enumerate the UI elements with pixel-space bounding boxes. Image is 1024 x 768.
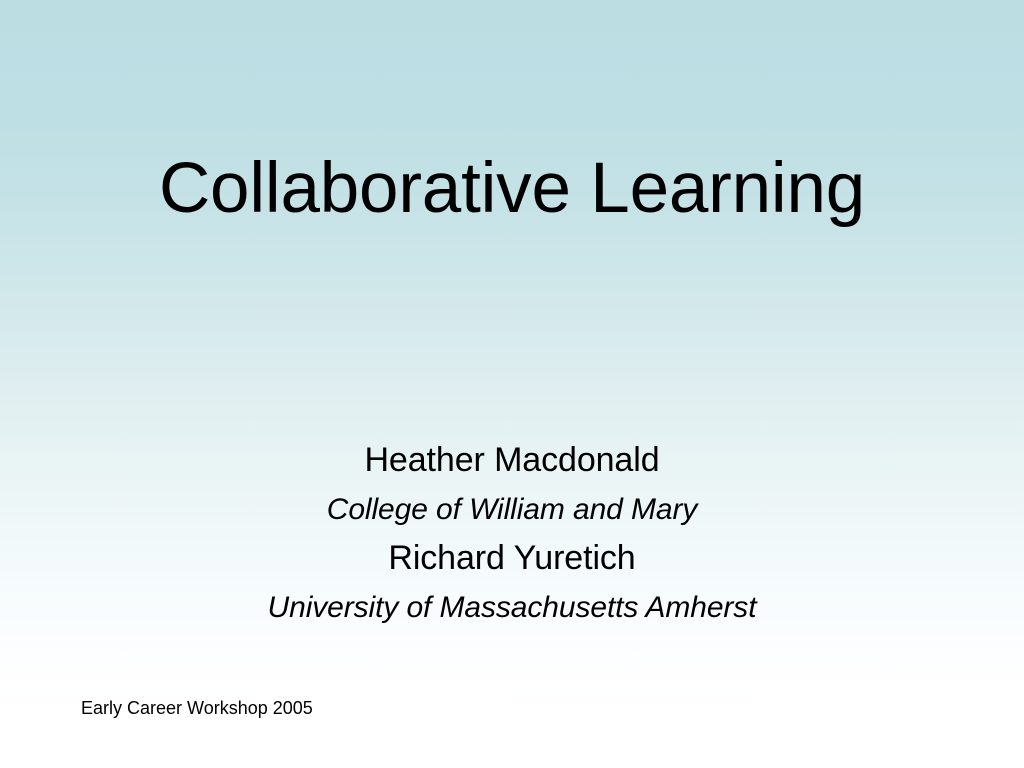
title-container: Collaborative Learning (0, 152, 1024, 227)
presenter-list: Heather Macdonald College of William and… (62, 436, 962, 632)
presentation-slide: Collaborative Learning Heather Macdonald… (0, 0, 1024, 768)
page-title: Collaborative Learning (159, 152, 865, 227)
presenter-name-1: Heather Macdonald (62, 436, 962, 485)
event-footer: Early Career Workshop 2005 (81, 697, 313, 719)
presenter-affiliation-1: College of William and Mary (62, 485, 962, 534)
presenter-name-2: Richard Yuretich (62, 534, 962, 583)
footer-container: Early Career Workshop 2005 (81, 697, 313, 719)
presenter-affiliation-2: University of Massachusetts Amherst (62, 583, 962, 632)
